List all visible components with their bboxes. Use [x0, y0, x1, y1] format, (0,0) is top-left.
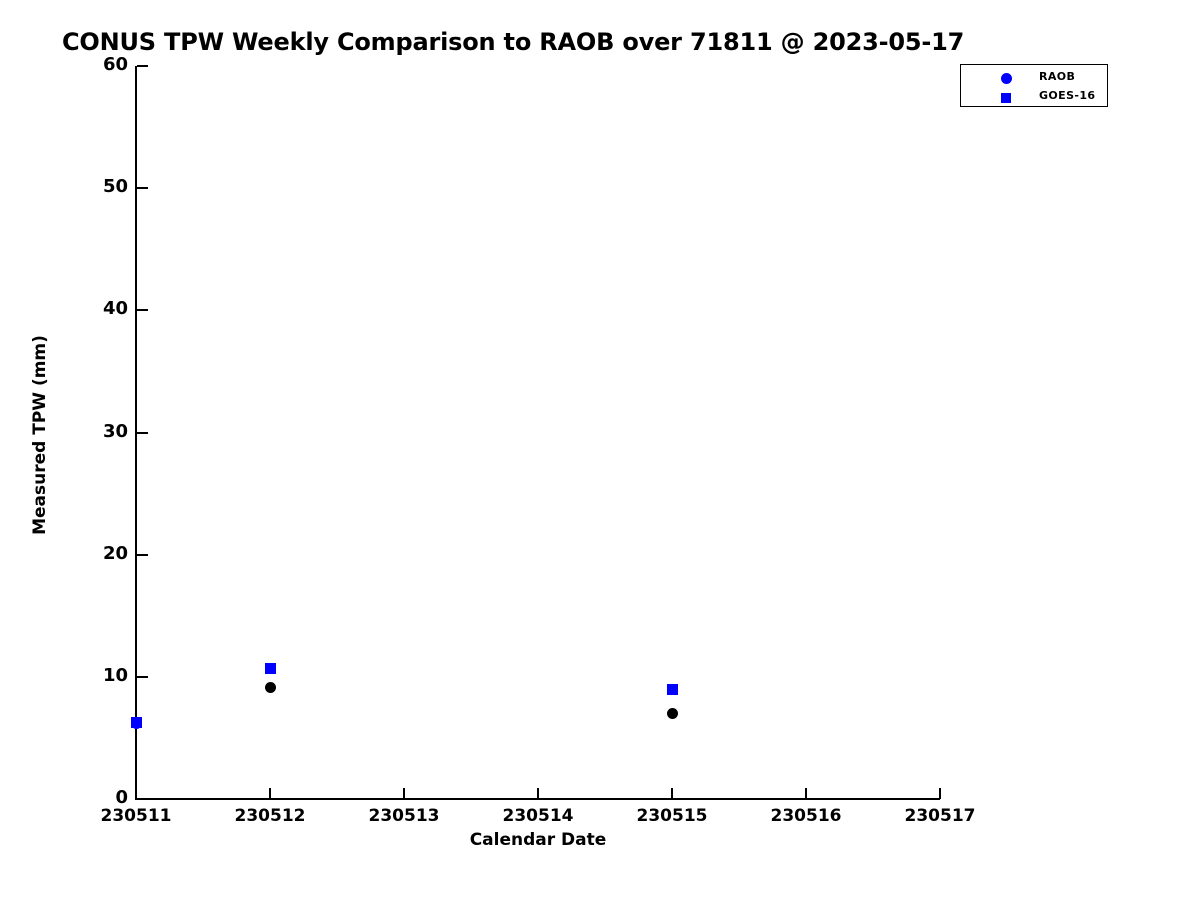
legend-circle-icon: [1001, 73, 1012, 84]
x-tick-label: 230513: [344, 806, 464, 826]
x-axis-label: Calendar Date: [0, 830, 1076, 850]
plot-area: [136, 66, 940, 799]
y-tick-label: 60: [88, 54, 128, 75]
chart-figure: CONUS TPW Weekly Comparison to RAOB over…: [0, 0, 1200, 900]
data-point-raob: [667, 708, 678, 719]
legend-item-raob[interactable]: RAOB: [961, 69, 1107, 89]
x-tick-label: 230516: [746, 806, 866, 826]
x-tick-label: 230511: [76, 806, 196, 826]
x-tick-label: 230515: [612, 806, 732, 826]
y-axis-label-wrapper: Measured TPW (mm): [0, 0, 40, 900]
page-title: CONUS TPW Weekly Comparison to RAOB over…: [62, 28, 964, 56]
y-tick-label: 10: [88, 665, 128, 686]
legend-item-goes-16[interactable]: GOES-16: [961, 88, 1107, 108]
y-tick-label: 30: [88, 421, 128, 442]
data-point-goes-16: [265, 663, 276, 674]
x-tick-label: 230517: [880, 806, 1000, 826]
y-tick-label: 20: [88, 543, 128, 564]
data-point-goes-16: [667, 684, 678, 695]
legend-square-icon: [1001, 93, 1011, 103]
x-tick-label: 230512: [210, 806, 330, 826]
y-axis-label: Measured TPW (mm): [30, 285, 50, 585]
legend-label: GOES-16: [1039, 89, 1096, 102]
y-tick-label: 0: [88, 787, 128, 808]
data-point-overlap-goes-16: [131, 718, 142, 729]
x-tick-label: 230514: [478, 806, 598, 826]
y-tick-label: 50: [88, 176, 128, 197]
legend-label: RAOB: [1039, 70, 1075, 83]
chart-legend: RAOBGOES-16: [960, 64, 1108, 107]
data-point-raob: [265, 682, 276, 693]
y-tick-label: 40: [88, 298, 128, 319]
